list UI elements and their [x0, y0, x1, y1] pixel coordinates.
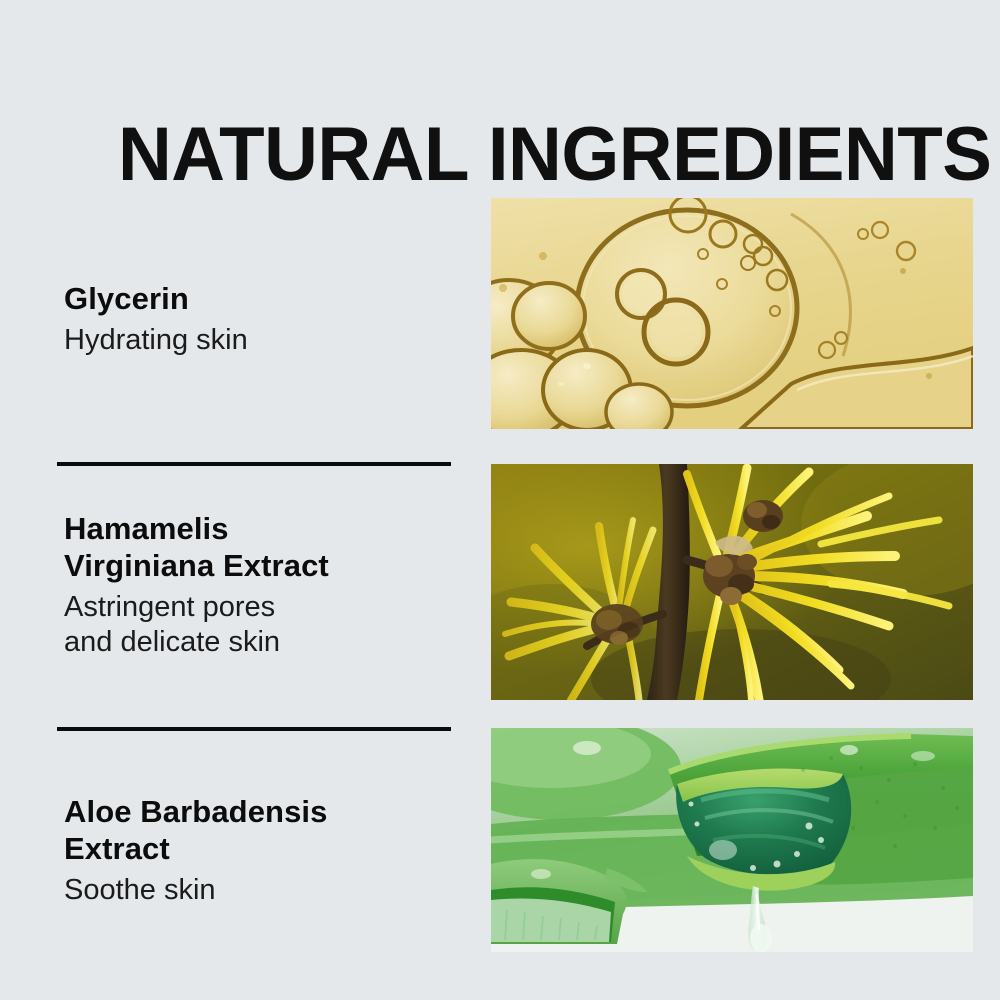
ingredient-description: Hydrating skin: [64, 323, 464, 358]
list-item: Glycerin Hydrating skin: [64, 280, 464, 358]
natural-ingredients-poster: NATURAL INGREDIENTS Glycerin Hydrating s…: [0, 0, 1000, 1000]
aloe-vera-gel-photo: [491, 728, 973, 952]
witch-hazel-flower-photo: [491, 464, 973, 700]
list-item: Aloe Barbadensis Extract Soothe skin: [64, 793, 464, 908]
list-item: Hamamelis Virginiana Extract Astringent …: [64, 510, 464, 660]
divider: [57, 727, 451, 731]
divider: [57, 462, 451, 466]
ingredient-name: Glycerin: [64, 280, 464, 317]
glycerin-oil-bubbles-photo: [491, 198, 973, 429]
ingredient-name: Hamamelis Virginiana Extract: [64, 510, 464, 584]
ingredient-list: Glycerin Hydrating skin Hamamelis Virgin…: [0, 180, 470, 980]
ingredient-description: Astringent pores and delicate skin: [64, 590, 464, 660]
ingredient-description: Soothe skin: [64, 873, 464, 908]
ingredient-name: Aloe Barbadensis Extract: [64, 793, 464, 867]
